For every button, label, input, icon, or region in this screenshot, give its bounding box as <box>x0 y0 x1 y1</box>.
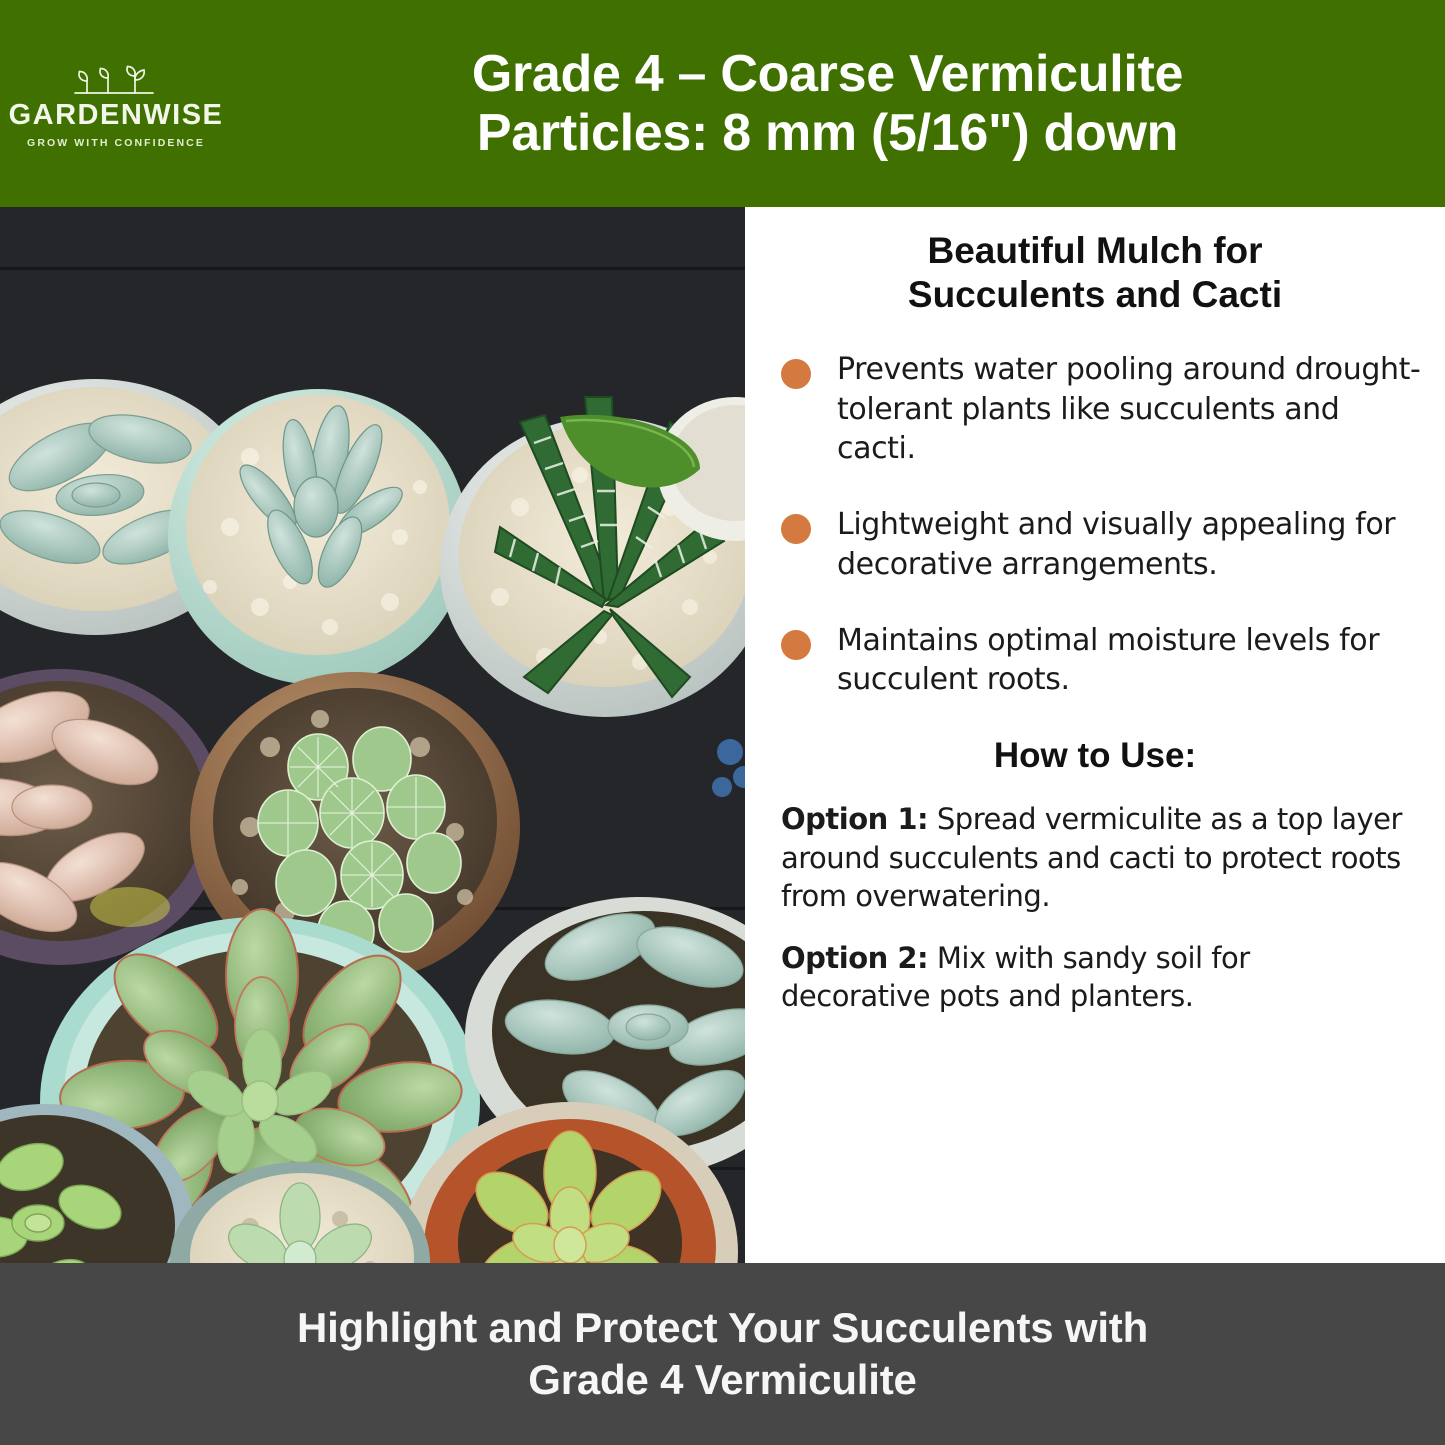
brand-tagline: GROW WITH CONFIDENCE <box>27 137 205 149</box>
title-line-2: Particles: 8 mm (5/16") down <box>232 104 1423 162</box>
panel-heading: Beautiful Mulch for Succulents and Cacti <box>785 229 1405 316</box>
bullet-dot-icon <box>781 630 811 660</box>
product-photo <box>0 207 745 1263</box>
title-line-1: Grade 4 – Coarse Vermiculite <box>472 45 1183 103</box>
option-1: Option 1: Spread vermiculite as a top la… <box>781 800 1407 915</box>
benefit-text: Prevents water pooling around drought-to… <box>837 350 1421 468</box>
footer-banner: Highlight and Protect Your Succulents wi… <box>0 1263 1445 1445</box>
bullet-dot-icon <box>781 514 811 544</box>
howto-title: How to Use: <box>785 736 1405 776</box>
brand-logo: GARDENWISE GROW WITH CONFIDENCE <box>0 59 232 149</box>
list-item: Maintains optimal moisture levels for su… <box>781 621 1421 700</box>
benefit-text: Maintains optimal moisture levels for su… <box>837 621 1421 700</box>
brand-name: GARDENWISE <box>9 101 224 130</box>
header-banner: GARDENWISE GROW WITH CONFIDENCE Grade 4 … <box>0 0 1445 207</box>
footer-line-2: Grade 4 Vermiculite <box>297 1354 1148 1406</box>
list-item: Prevents water pooling around drought-to… <box>781 350 1421 468</box>
product-infographic: GARDENWISE GROW WITH CONFIDENCE Grade 4 … <box>0 0 1445 1445</box>
benefit-text: Lightweight and visually appealing for d… <box>837 505 1421 584</box>
footer-line-1: Highlight and Protect Your Succulents wi… <box>297 1304 1148 1351</box>
page-title: Grade 4 – Coarse Vermiculite Particles: … <box>232 45 1445 161</box>
panel-heading-line-2: Succulents and Cacti <box>785 273 1405 317</box>
option-1-label: Option 1: <box>781 802 928 836</box>
option-2: Option 2: Mix with sandy soil for decora… <box>781 939 1407 1016</box>
panel-heading-line-1: Beautiful Mulch for <box>785 229 1405 273</box>
option-2-label: Option 2: <box>781 941 928 975</box>
three-sprouts-icon <box>73 63 159 97</box>
list-item: Lightweight and visually appealing for d… <box>781 505 1421 584</box>
footer-tagline: Highlight and Protect Your Succulents wi… <box>297 1302 1148 1406</box>
info-panel: Beautiful Mulch for Succulents and Cacti… <box>745 207 1445 1263</box>
benefits-list: Prevents water pooling around drought-to… <box>781 350 1421 699</box>
bullet-dot-icon <box>781 359 811 389</box>
